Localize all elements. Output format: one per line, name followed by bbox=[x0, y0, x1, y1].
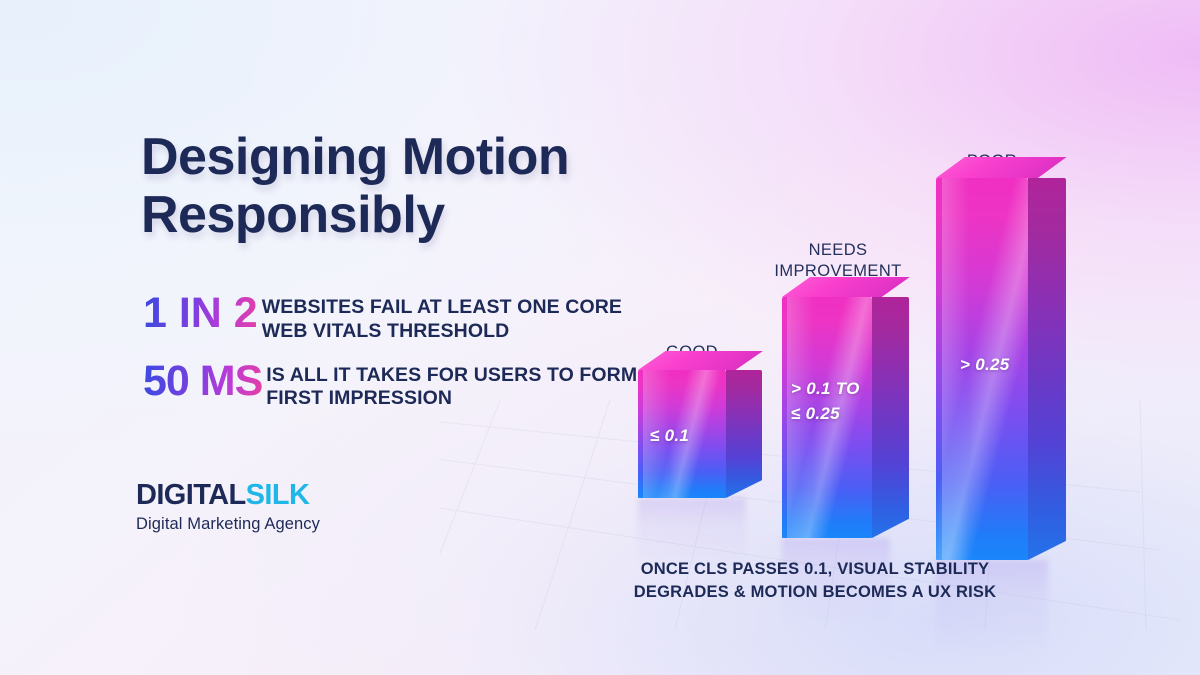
bar-value-line: > 0.1 TO bbox=[791, 377, 867, 402]
bar-value-needs-improvement: > 0.1 TO ≤ 0.25 bbox=[791, 377, 867, 426]
infographic-canvas: Designing Motion Responsibly 1 IN 2 WEBS… bbox=[0, 0, 1200, 675]
bar-value-line: ≤ 0.25 bbox=[791, 402, 867, 427]
bar-value-good: ≤ 0.1 bbox=[650, 424, 722, 449]
bar-side-face bbox=[726, 370, 762, 498]
chart-caption: ONCE CLS PASSES 0.1, VISUAL STABILITY DE… bbox=[600, 558, 1030, 605]
bar-value-line: > 0.25 bbox=[960, 353, 1036, 378]
bar-needs-improvement: > 0.1 TO ≤ 0.25 bbox=[782, 297, 872, 538]
bar-label-needs-improvement: NEEDS IMPROVEMENT bbox=[768, 240, 908, 281]
bar-side-face bbox=[872, 297, 909, 538]
bar-value-poor: > 0.25 bbox=[960, 353, 1036, 378]
bar-poor: > 0.25 bbox=[936, 178, 1028, 560]
bar-label-line: NEEDS bbox=[768, 240, 908, 261]
bar-value-line: ≤ 0.1 bbox=[650, 424, 722, 449]
bar-good: ≤ 0.1 bbox=[638, 370, 726, 498]
